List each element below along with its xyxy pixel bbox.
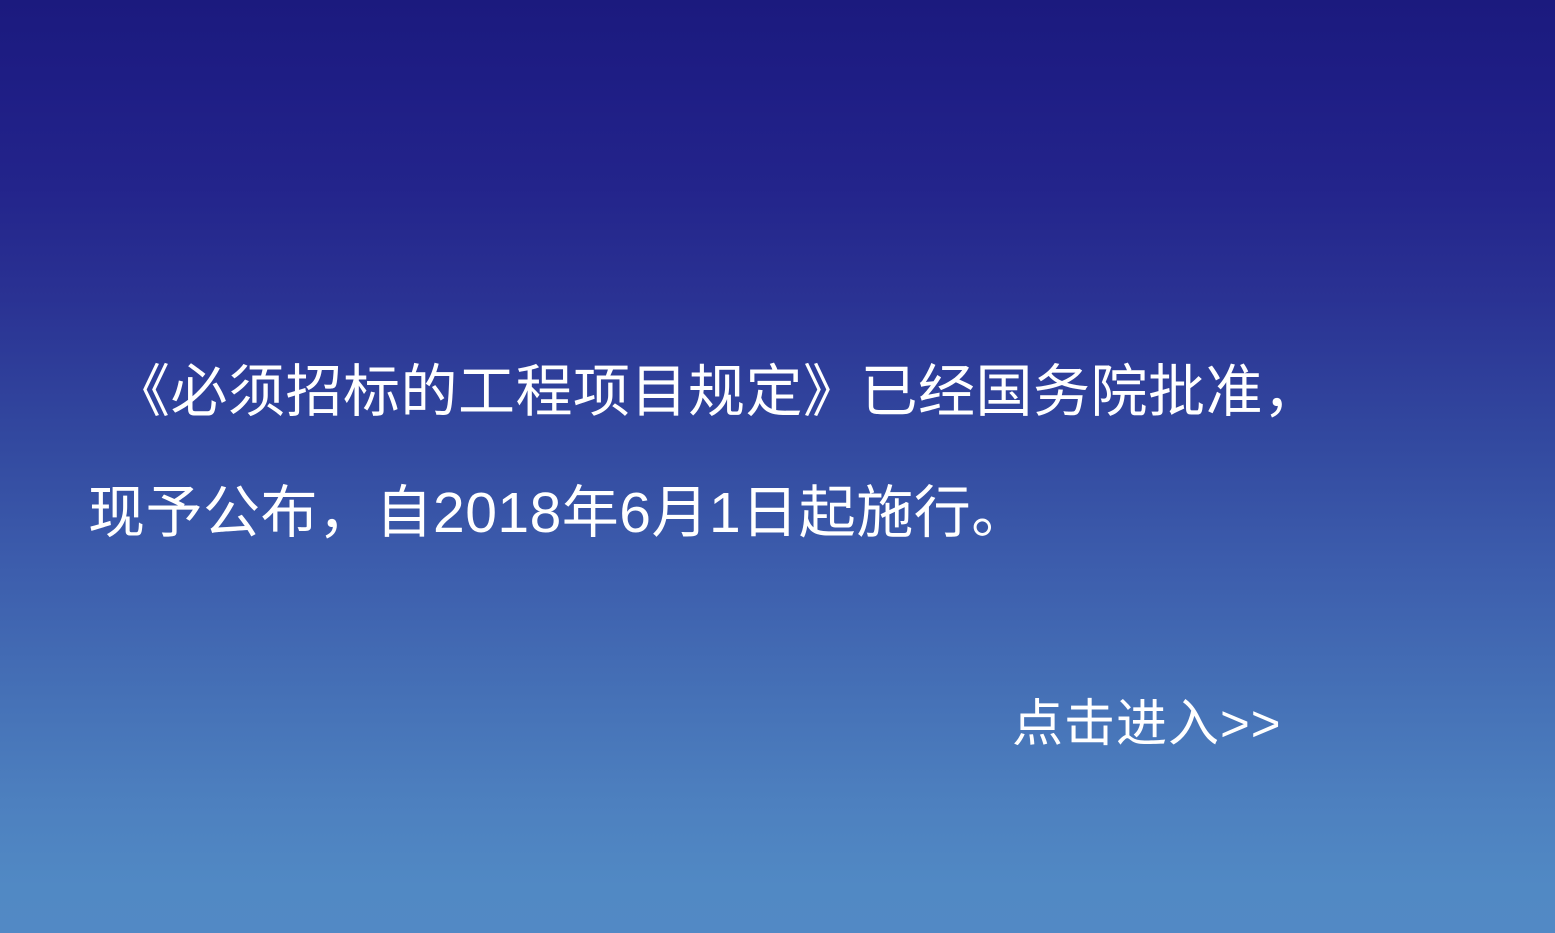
announcement-line-1: 《必须招标的工程项目规定》已经国务院批准， <box>0 332 1555 453</box>
promo-banner: 《必须招标的工程项目规定》已经国务院批准， 现予公布，自2018年6月1日起施行… <box>0 0 1555 933</box>
enter-link[interactable]: 点击进入>> <box>1012 692 1282 756</box>
announcement-text: 《必须招标的工程项目规定》已经国务院批准， 现予公布，自2018年6月1日起施行… <box>0 332 1555 574</box>
announcement-line-2: 现予公布，自2018年6月1日起施行。 <box>0 453 1555 574</box>
